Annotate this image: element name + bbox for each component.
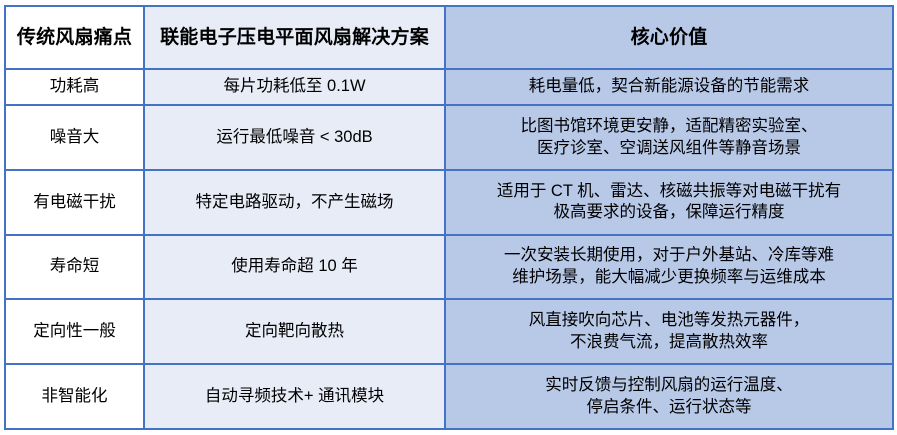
cell-core-value-line: 实时反馈与控制风扇的运行温度、 [454,375,884,397]
cell-core-value: 适用于 CT 机、雷达、核磁共振等对电磁干扰有 极高要求的设备，保障运行精度 [445,170,893,235]
cell-core-value-line: 维护场景，能大幅减少更换频率与运维成本 [454,267,884,289]
cell-pain-point: 定向性一般 [5,299,144,364]
table-row: 寿命短 使用寿命超 10 年 一次安装长期使用，对于户外基站、冷库等难 维护场景… [5,235,893,300]
cell-core-value-line: 一次安装长期使用，对于户外基站、冷库等难 [454,245,884,267]
table-row: 定向性一般 定向靶向散热 风直接吹向芯片、电池等发热元器件， 不浪费气流，提高散… [5,299,893,364]
table-body: 传统风扇痛点 联能电子压电平面风扇解决方案 核心价值 功耗高 每片功耗低至 0.… [5,6,893,429]
cell-core-value-line: 停启条件、运行状态等 [454,397,884,419]
cell-core-value: 一次安装长期使用，对于户外基站、冷库等难 维护场景，能大幅减少更换频率与运维成本 [445,235,893,300]
header-cell-core-value: 核心价值 [445,6,893,69]
cell-solution: 每片功耗低至 0.1W [144,69,445,105]
cell-core-value-line: 风直接吹向芯片、电池等发热元器件， [454,310,884,332]
cell-pain-point: 非智能化 [5,364,144,429]
cell-core-value: 风直接吹向芯片、电池等发热元器件， 不浪费气流，提高散热效率 [445,299,893,364]
cell-core-value-line: 不浪费气流，提高散热效率 [454,332,884,354]
table-row: 非智能化 自动寻频技术+ 通讯模块 实时反馈与控制风扇的运行温度、 停启条件、运… [5,364,893,429]
cell-solution: 定向靶向散热 [144,299,445,364]
cell-core-value: 比图书馆环境更安静，适配精密实验室、 医疗诊室、空调送风组件等静音场景 [445,105,893,170]
cell-solution: 自动寻频技术+ 通讯模块 [144,364,445,429]
table-row: 噪音大 运行最低噪音 < 30dB 比图书馆环境更安静，适配精密实验室、 医疗诊… [5,105,893,170]
header-cell-solution: 联能电子压电平面风扇解决方案 [144,6,445,69]
cell-solution: 运行最低噪音 < 30dB [144,105,445,170]
table-header-row: 传统风扇痛点 联能电子压电平面风扇解决方案 核心价值 [5,6,893,69]
cell-pain-point: 噪音大 [5,105,144,170]
cell-core-value: 耗电量低，契合新能源设备的节能需求 [445,69,893,105]
cell-core-value-line: 比图书馆环境更安静，适配精密实验室、 [454,116,884,138]
cell-core-value-line: 适用于 CT 机、雷达、核磁共振等对电磁干扰有 [454,181,884,203]
cell-pain-point: 有电磁干扰 [5,170,144,235]
cell-core-value-line: 医疗诊室、空调送风组件等静音场景 [454,138,884,160]
cell-solution: 使用寿命超 10 年 [144,235,445,300]
table-row: 有电磁干扰 特定电路驱动，不产生磁场 适用于 CT 机、雷达、核磁共振等对电磁干… [5,170,893,235]
cell-pain-point: 功耗高 [5,69,144,105]
comparison-table-container: 传统风扇痛点 联能电子压电平面风扇解决方案 核心价值 功耗高 每片功耗低至 0.… [4,5,892,430]
cell-core-value-line: 极高要求的设备，保障运行精度 [454,202,884,224]
cell-pain-point: 寿命短 [5,235,144,300]
cell-solution: 特定电路驱动，不产生磁场 [144,170,445,235]
cell-core-value: 实时反馈与控制风扇的运行温度、 停启条件、运行状态等 [445,364,893,429]
table-row: 功耗高 每片功耗低至 0.1W 耗电量低，契合新能源设备的节能需求 [5,69,893,105]
cell-core-value-line: 耗电量低，契合新能源设备的节能需求 [454,76,884,98]
header-cell-pain-point: 传统风扇痛点 [5,6,144,69]
comparison-table: 传统风扇痛点 联能电子压电平面风扇解决方案 核心价值 功耗高 每片功耗低至 0.… [4,5,894,430]
